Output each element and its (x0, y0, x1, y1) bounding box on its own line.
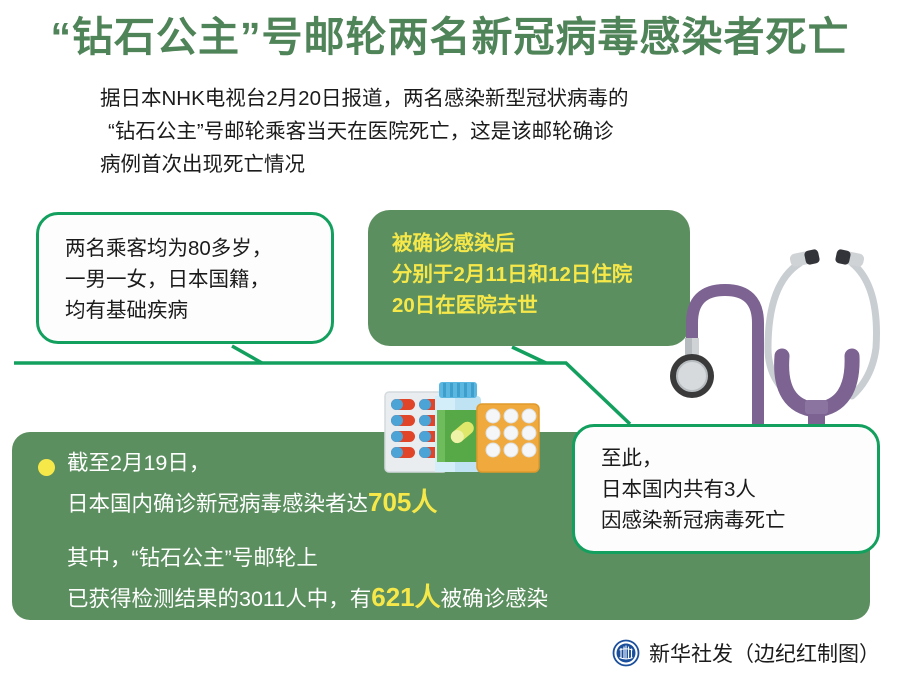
subtitle-line-3: 病例首次出现死亡情况 (100, 148, 800, 181)
subtitle-line-2: “钻石公主”号邮轮乘客当天在医院死亡，这是该邮轮确诊 (100, 115, 800, 148)
stat-line-japan-total: 日本国内确诊新冠病毒感染者达705人 (67, 489, 437, 516)
callout-hospitalization-line-1: 被确诊感染后 (392, 228, 632, 259)
callout-hospitalization-line-2: 分别于2月11日和12日住院 (392, 259, 632, 290)
credit-line: 新华社发（边纪红制图） (612, 638, 880, 668)
stat-japan-prefix: 日本国内确诊新冠病毒感染者达 (67, 492, 368, 516)
stat-line-ship-confirmed: 已获得检测结果的3011人中，有621人被确诊感染 (67, 584, 548, 611)
stat-line-ship-intro: 其中，“钻石公主”号邮轮上 (67, 548, 318, 570)
stat-line-date: 截至2月19日， (67, 453, 210, 475)
callout-total-deaths-line-2: 日本国内共有3人 (601, 474, 786, 505)
callout-passengers-line-1: 两名乘客均为80多岁， (65, 233, 272, 264)
stat-ship-suffix: 被确诊感染 (441, 587, 549, 611)
subtitle-line-1: 据日本NHK电视台2月20日报道，两名感染新型冠状病毒的 (100, 82, 800, 115)
callout-passengers-line-3: 均有基础疾病 (65, 295, 272, 326)
callout-passengers-text: 两名乘客均为80多岁， 一男一女，日本国籍， 均有基础疾病 (65, 233, 272, 326)
pills-illustration (383, 374, 559, 474)
stat-ship-prefix: 已获得检测结果的3011人中，有 (67, 587, 371, 611)
page-title: “钻石公主”号邮轮两名新冠病毒感染者死亡 (0, 14, 900, 61)
callout-hospitalization-line-3: 20日在医院去世 (392, 290, 632, 321)
stat-japan-value: 705人 (368, 487, 437, 517)
callout-total-deaths: 至此， 日本国内共有3人 因感染新冠病毒死亡 (572, 424, 880, 554)
credit-text: 新华社发（边纪红制图） (649, 638, 880, 668)
stat-ship-value: 621人 (371, 582, 440, 612)
callout-total-deaths-line-1: 至此， (601, 443, 786, 474)
callout-total-deaths-text: 至此， 日本国内共有3人 因感染新冠病毒死亡 (601, 443, 786, 536)
subtitle-paragraph: 据日本NHK电视台2月20日报道，两名感染新型冠状病毒的 “钻石公主”号邮轮乘客… (100, 82, 800, 182)
callout-passengers: 两名乘客均为80多岁， 一男一女，日本国籍， 均有基础疾病 (36, 212, 334, 344)
callout-passengers-line-2: 一男一女，日本国籍， (65, 264, 272, 295)
infographic-page: “钻石公主”号邮轮两名新冠病毒感染者死亡 据日本NHK电视台2月20日报道，两名… (0, 0, 900, 688)
xinhua-logo-icon (612, 639, 640, 667)
callout-total-deaths-line-3: 因感染新冠病毒死亡 (601, 505, 786, 536)
callout-hospitalization-text: 被确诊感染后 分别于2月11日和12日住院 20日在医院去世 (392, 228, 632, 321)
bullet-point-icon (38, 459, 55, 476)
